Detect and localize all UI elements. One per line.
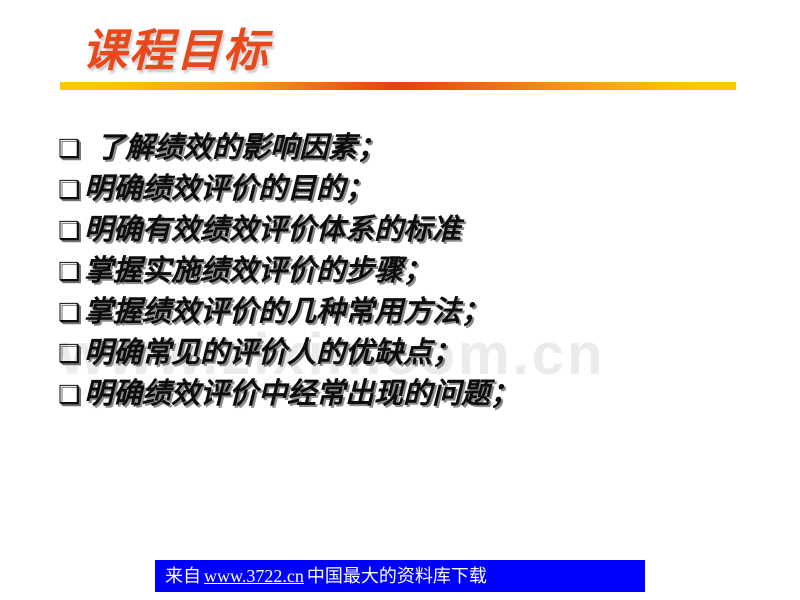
- footer-suffix-label: 中国最大的资料库下载: [307, 560, 487, 592]
- list-item: ❑ 明确绩效评价的目的；: [58, 169, 758, 210]
- title-block: 课程目标: [60, 22, 740, 84]
- list-item: ❑ 掌握实施绩效评价的步骤；: [58, 251, 758, 292]
- list-item: ❑ 明确绩效评价中经常出现的问题；: [58, 374, 758, 415]
- footer-prefix-label: 来自: [155, 560, 201, 592]
- square-bullet-icon: ❑: [58, 333, 84, 374]
- objectives-list: ❑ 了解绩效的影响因素； ❑ 明确绩效评价的目的； ❑ 明确有效绩效评价体系的标…: [58, 128, 758, 415]
- square-bullet-icon: ❑: [58, 251, 84, 292]
- title-divider: [60, 82, 736, 90]
- source-footer-bar: 来自 www.3722.cn 中国最大的资料库下载: [155, 560, 645, 592]
- list-item-label: 明确绩效评价的目的；: [84, 169, 374, 210]
- square-bullet-icon: ❑: [58, 292, 84, 333]
- list-item: ❑ 明确常见的评价人的优缺点；: [58, 333, 758, 374]
- source-site-link[interactable]: www.3722.cn: [201, 566, 307, 587]
- square-bullet-icon: ❑: [58, 169, 84, 210]
- list-item: ❑ 掌握绩效评价的几种常用方法；: [58, 292, 758, 333]
- list-item: ❑ 了解绩效的影响因素；: [58, 128, 758, 169]
- square-bullet-icon: ❑: [58, 210, 84, 251]
- list-item: ❑ 明确有效绩效评价体系的标准: [58, 210, 758, 251]
- list-item-label: 掌握绩效评价的几种常用方法；: [84, 292, 490, 333]
- list-item-label: 明确常见的评价人的优缺点；: [84, 333, 461, 374]
- page-title: 课程目标: [82, 22, 270, 80]
- list-item-label: 了解绩效的影响因素；: [84, 128, 386, 169]
- square-bullet-icon: ❑: [58, 374, 84, 415]
- list-item-label: 掌握实施绩效评价的步骤；: [84, 251, 432, 292]
- list-item-label: 明确有效绩效评价体系的标准: [84, 210, 461, 251]
- square-bullet-icon: ❑: [58, 128, 84, 169]
- list-item-label: 明确绩效评价中经常出现的问题；: [84, 374, 519, 415]
- slide-canvas: 课程目标 www.zixin.com.cn ❑ 了解绩效的影响因素； ❑ 明确绩…: [0, 0, 800, 600]
